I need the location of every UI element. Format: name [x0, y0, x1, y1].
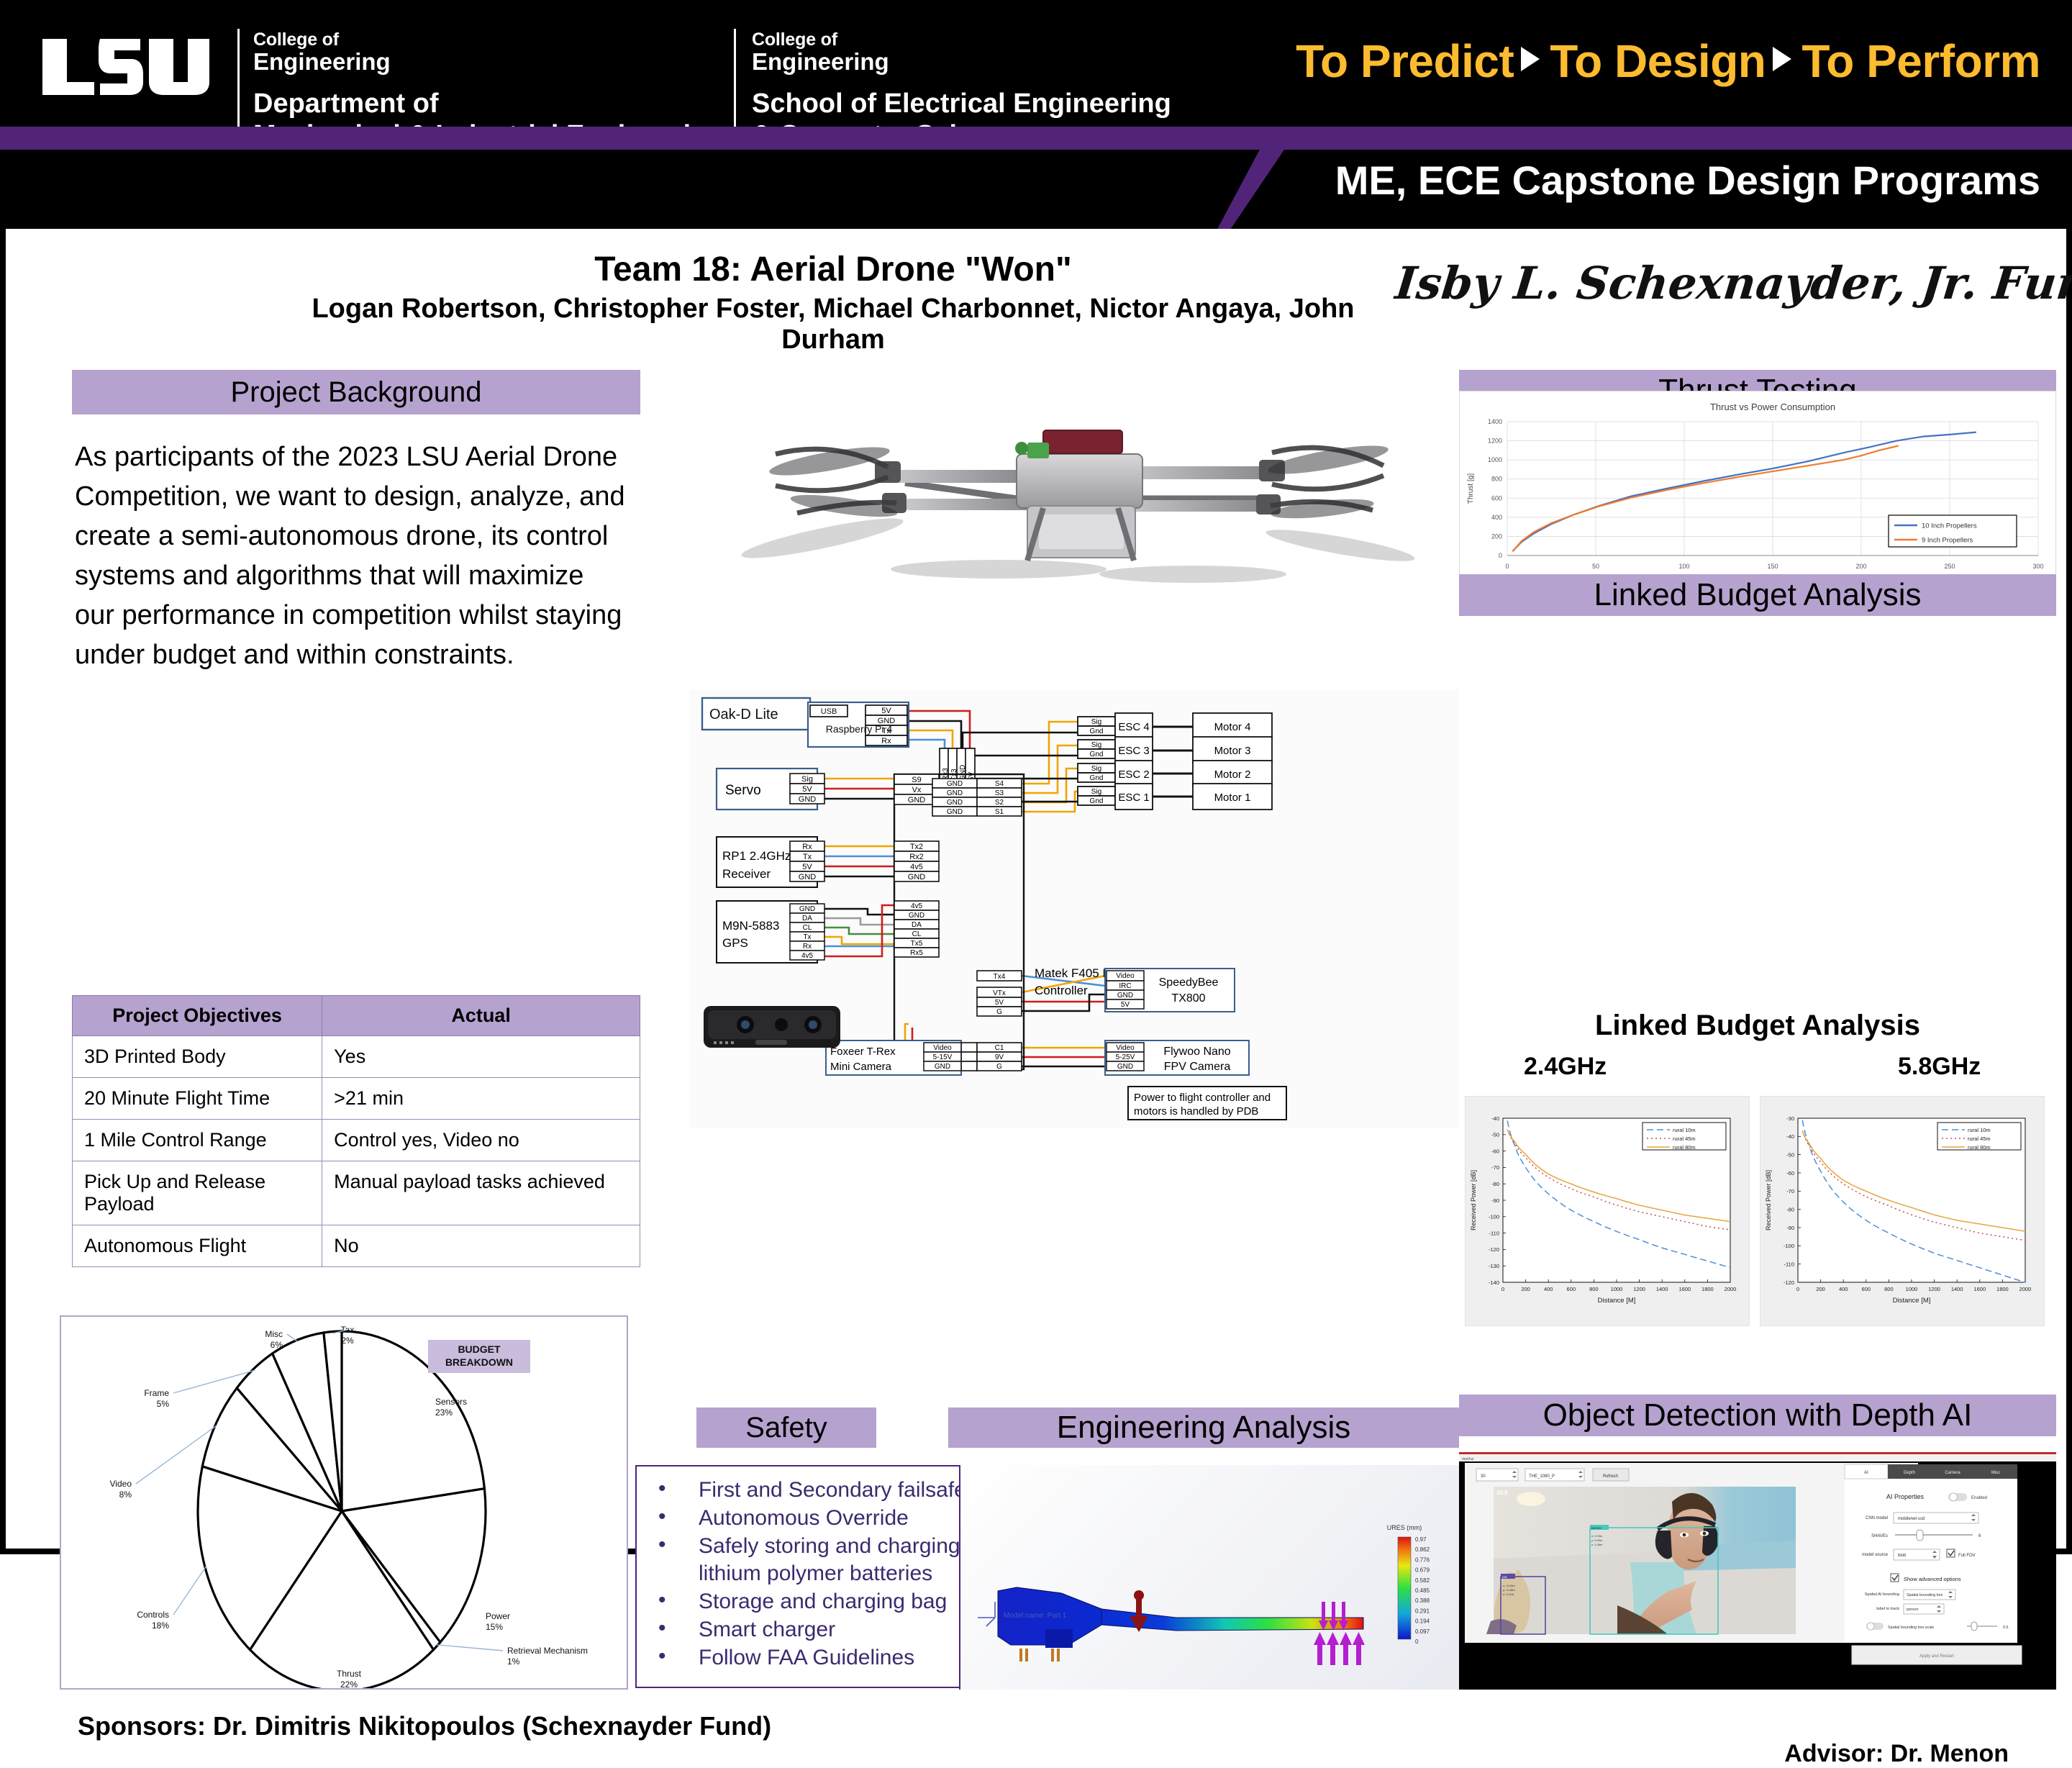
objective-name: 20 Minute Flight Time [73, 1078, 322, 1120]
section-header-engineering-analysis: Engineering Analysis [948, 1407, 1459, 1448]
svg-text:100: 100 [1678, 563, 1689, 570]
fc-rx-pin-0: Tx2 [910, 843, 923, 851]
svg-text:0.776: 0.776 [1415, 1556, 1430, 1563]
svg-text:rural 45m: rural 45m [1673, 1135, 1696, 1142]
svg-text:10 Inch Propellers: 10 Inch Propellers [1922, 522, 1977, 530]
fc-vtx-pin-1: VTx [993, 989, 1006, 997]
fc-servo-pin-2: GND [908, 796, 926, 804]
linked-budget-chart-58ghz: 0200400600800100012001400160018002000-12… [1760, 1096, 2045, 1326]
svg-text:Video: Video [110, 1479, 132, 1489]
svg-text:400: 400 [1544, 1286, 1553, 1292]
svg-text:z: 1.11m: z: 1.11m [1503, 1592, 1514, 1596]
od-tab-misc: Misc [1991, 1471, 2000, 1475]
esc-label-3: ESC 3 [1118, 745, 1149, 757]
svg-text:-90: -90 [1491, 1197, 1499, 1204]
foxeer-pin-1: 5-15V [933, 1053, 953, 1061]
svg-text:y: -0.18m: y: -0.18m [1503, 1588, 1515, 1592]
rx-pin-2: 5V [802, 863, 812, 871]
coordinate-triad-icon [978, 1602, 995, 1626]
rpi-pin-3: Rx [881, 737, 891, 745]
speedybee-label-1: SpeedyBee [1159, 976, 1219, 989]
section-header-engineering-analysis-label: Engineering Analysis [1057, 1410, 1350, 1446]
svg-text:0.388: 0.388 [1415, 1597, 1430, 1604]
svg-text:0.679: 0.679 [1415, 1567, 1430, 1574]
svg-text:6%: 6% [271, 1340, 283, 1350]
svg-text:x: 0.03m: x: 0.03m [1591, 1534, 1603, 1538]
force-arrows-icon [1314, 1602, 1365, 1665]
svg-text:23%: 23% [435, 1407, 453, 1418]
svg-text:Controls: Controls [137, 1610, 169, 1620]
svg-text:300: 300 [2032, 563, 2043, 570]
svg-text:0.194: 0.194 [1415, 1618, 1430, 1625]
svg-text:-80: -80 [1786, 1206, 1794, 1212]
svg-text:-60: -60 [1491, 1148, 1499, 1154]
od-fps-overlay: 30.0 [1496, 1490, 1508, 1496]
oak-d-product-photo [704, 1006, 840, 1048]
svg-text:0: 0 [1501, 1286, 1504, 1292]
od-field-label-0: CNN model [1866, 1516, 1888, 1520]
fc-cam-right-1: 9V [995, 1053, 1004, 1061]
gps-pin-1: DA [802, 915, 812, 922]
objective-name: 3D Printed Body [73, 1036, 322, 1078]
svg-text:-50: -50 [1491, 1132, 1499, 1138]
safety-list: First and Secondary failsafe Autonomous … [637, 1477, 970, 1671]
svg-text:-60: -60 [1786, 1170, 1794, 1177]
motor-label-3: Motor 3 [1214, 745, 1251, 757]
tagline-predict: To Predict [1296, 35, 1514, 87]
list-item: Safely storing and charging lithium poly… [637, 1533, 970, 1586]
svg-text:800: 800 [1491, 476, 1502, 483]
svg-text:1400: 1400 [1656, 1286, 1668, 1292]
header-divider-2 [734, 29, 736, 130]
page-title: Team 18: Aerial Drone "Won" [308, 250, 1358, 289]
fc-gps-pin-0: 4v5 [911, 902, 923, 910]
svg-text:Distance [M]: Distance [M] [1598, 1297, 1636, 1305]
od-resolution-value: THE_1080_P [1529, 1474, 1555, 1479]
speedybee-label-2: TX800 [1171, 992, 1205, 1005]
flywoo-label-2: FPV Camera [1164, 1061, 1231, 1073]
svg-text:Thrust vs Power Consumption: Thrust vs Power Consumption [1710, 402, 1835, 412]
esc1-pin-sig: Sig [1091, 788, 1101, 796]
svg-text:-110: -110 [1784, 1261, 1794, 1267]
rx-pin-1: Tx [803, 853, 812, 861]
poster-body: Team 18: Aerial Drone "Won" Logan Robert… [0, 229, 2072, 1554]
fc-motor-gnd-1: GND [947, 789, 963, 797]
svg-text:0: 0 [1505, 563, 1509, 570]
svg-text:15%: 15% [486, 1622, 503, 1632]
svg-text:-90: -90 [1786, 1225, 1794, 1231]
esc3-pin-sig: Sig [1091, 741, 1101, 749]
page-header: College of Engineering Department of Mec… [0, 0, 2072, 229]
esc-label-4: ESC 4 [1118, 721, 1149, 733]
motor-label-2: Motor 2 [1214, 769, 1251, 781]
fc-rx-pin-3: GND [908, 873, 926, 881]
rpi-pin-0: 5V [881, 707, 891, 715]
svg-text:-100: -100 [1784, 1243, 1794, 1249]
fc-motor-gnd-0: GND [947, 780, 963, 788]
fc-gps-pin-1: GND [909, 912, 924, 920]
lsu-logo [40, 35, 212, 99]
svg-text:600: 600 [1567, 1286, 1576, 1292]
fea-model-label: Model name: Part 1 [1004, 1612, 1067, 1620]
svg-text:0.582: 0.582 [1415, 1577, 1430, 1584]
speedybee-pin-3: 5V [1121, 1001, 1130, 1009]
header-tagline: To PredictTo DesignTo Perform [1296, 35, 2040, 88]
dept2-name-line1: School of Electrical Engineering [752, 88, 1171, 120]
svg-text:0.862: 0.862 [1415, 1546, 1430, 1553]
frequency-label-58ghz: 5.8GHz [1898, 1053, 1981, 1081]
svg-text:Received Power [dB]: Received Power [dB] [1765, 1170, 1772, 1230]
section-header-project-background: Project Background [72, 370, 640, 414]
dept2-college-line1: College of [752, 30, 1171, 50]
linked-budget-chart-24ghz: 0200400600800100012001400160018002000-14… [1465, 1096, 1750, 1326]
od-top-controls: 30 THE_1080_P Refresh [1476, 1469, 1629, 1481]
fc-servo-pin-0: S9 [912, 776, 921, 784]
fc-gps-pin-5: Rx5 [910, 949, 923, 957]
svg-text:1800: 1800 [1701, 1286, 1714, 1292]
od-tracker-label: Spatial bounding box scale [1888, 1626, 1934, 1630]
svg-text:-110: -110 [1489, 1230, 1499, 1236]
program-title: ME, ECE Capstone Design Programs [1335, 157, 2040, 204]
project-background-text: As participants of the 2023 LSU Aerial D… [75, 438, 629, 676]
section-header-safety-label: Safety [745, 1412, 827, 1444]
esc4-pin-sig: Sig [1091, 718, 1101, 726]
gps-pin-5: 4v5 [801, 952, 814, 960]
svg-text:1%: 1% [507, 1656, 520, 1667]
svg-text:2%: 2% [341, 1336, 354, 1346]
svg-text:2000: 2000 [1725, 1286, 1737, 1292]
objective-actual: Yes [322, 1036, 640, 1078]
list-item: First and Secondary failsafe [637, 1477, 970, 1503]
od-field-label-2: model source [1862, 1553, 1889, 1557]
fea-colorbar-title: URES (mm) [1387, 1524, 1422, 1531]
linked-budget-inner-title: Linked Budget Analysis [1459, 1010, 2056, 1042]
svg-text:400: 400 [1491, 514, 1502, 521]
servo-label: Servo [725, 783, 761, 798]
chevron-right-icon-1 [1521, 47, 1540, 71]
od-refresh-button: Refresh [1603, 1474, 1618, 1479]
fc-cam-right-0: C1 [995, 1044, 1004, 1052]
foxeer-label-2: Mini Camera [830, 1061, 892, 1073]
fc-gps-pin-4: Tx5 [911, 940, 923, 948]
objective-actual: >21 min [322, 1078, 640, 1120]
gps-label-2: GPS [722, 936, 748, 950]
svg-text:-50: -50 [1786, 1151, 1794, 1158]
objective-name: 1 Mile Control Range [73, 1120, 322, 1161]
svg-text:600: 600 [1862, 1286, 1871, 1292]
svg-text:0: 0 [1796, 1286, 1799, 1292]
svg-text:1000: 1000 [1611, 1286, 1623, 1292]
budget-breakdown-chart: Sensors23%Power15%Retrieval Mechanism1%T… [60, 1315, 628, 1690]
od-field-value-0: mobilenet-ssd [1898, 1517, 1925, 1521]
objective-actual: No [322, 1225, 640, 1267]
svg-text:Thrust: Thrust [337, 1669, 362, 1679]
fc-motor-sig-1: S3 [995, 789, 1004, 797]
fc-rx-pin-2: 4v5 [910, 863, 923, 871]
flywoo-pin-0: Video [1116, 1044, 1135, 1052]
rx-pin-0: Rx [802, 843, 812, 851]
header-divider-1 [237, 29, 240, 130]
column-header-objectives: Project Objectives [73, 996, 322, 1036]
objective-name: Pick Up and Release Payload [73, 1161, 322, 1225]
column-header-actual: Actual [322, 996, 640, 1036]
od-tab-ai: AI [1864, 1471, 1868, 1475]
od-field-label-1: SHAVEs [1871, 1534, 1888, 1538]
table-row: Pick Up and Release Payload Manual paylo… [73, 1161, 640, 1225]
svg-text:-120: -120 [1489, 1246, 1499, 1253]
svg-text:Thrust [g]: Thrust [g] [1467, 473, 1475, 504]
svg-text:y: 0.09m: y: 0.09m [1591, 1538, 1603, 1542]
svg-text:Retrieval Mechanism: Retrieval Mechanism [507, 1646, 588, 1656]
svg-text:1800: 1800 [1996, 1286, 2009, 1292]
svg-text:rural 10m: rural 10m [1673, 1127, 1696, 1133]
svg-text:Frame: Frame [144, 1388, 169, 1398]
svg-text:-70: -70 [1491, 1164, 1499, 1171]
svg-text:Power: Power [486, 1611, 510, 1621]
esc4-pin-gnd: Gnd [1090, 727, 1104, 735]
svg-text:Sensors: Sensors [435, 1397, 467, 1407]
od-tracker-value: 0.5 [2003, 1626, 2009, 1630]
fea-result-image: Model name: Part 1 URES (mm) 0.970.8620.… [959, 1465, 1463, 1690]
section-header-linked-budget-label: Linked Budget Analysis [1594, 577, 1922, 613]
fc-cam-right-2: G [996, 1063, 1002, 1071]
speedybee-pin-0: Video [1116, 972, 1135, 980]
flywoo-pin-1: 5-25V [1116, 1053, 1135, 1061]
esc-label-2: ESC 2 [1118, 769, 1149, 781]
svg-text:-30: -30 [1786, 1115, 1794, 1122]
list-item: Autonomous Override [637, 1505, 970, 1531]
esc3-pin-gnd: Gnd [1090, 751, 1104, 758]
pdb-note-line2: motors is handled by PDB [1134, 1105, 1258, 1118]
flywoo-pin-2: GND [1117, 1063, 1133, 1071]
svg-text:1000: 1000 [1488, 456, 1502, 463]
gps-label-1: M9N-5883 [722, 919, 779, 933]
svg-text:x: -0.41m: x: -0.41m [1503, 1584, 1515, 1587]
dept1-college-line1: College of [253, 30, 724, 50]
svg-text:rural 80m: rural 80m [1968, 1144, 1991, 1151]
objective-actual: Manual payload tasks achieved [322, 1161, 640, 1225]
fc-motor-sig-2: S2 [995, 799, 1004, 807]
od-apply-button: Apply and Restart [1919, 1654, 1954, 1659]
svg-text:50: 50 [1592, 563, 1599, 570]
svg-text:150: 150 [1767, 563, 1778, 570]
svg-text:18%: 18% [152, 1620, 169, 1631]
svg-text:-70: -70 [1786, 1188, 1794, 1194]
pdb-note-line1: Power to flight controller and [1134, 1092, 1271, 1104]
diagram-label-oak-d: Oak-D Lite [709, 707, 778, 722]
svg-text:Received Power [dB]: Received Power [dB] [1470, 1170, 1477, 1230]
gps-pin-3: Tx [803, 933, 811, 941]
table-row: 20 Minute Flight Time >21 min [73, 1078, 640, 1120]
svg-text:9 Inch Propellers: 9 Inch Propellers [1922, 537, 1973, 545]
svg-text:BUDGET: BUDGET [458, 1343, 501, 1355]
svg-text:22%: 22% [340, 1679, 358, 1690]
svg-text:Misc: Misc [265, 1329, 283, 1339]
svg-text:0: 0 [1415, 1638, 1419, 1645]
od-adv-value-0: Spatial bounding box [1907, 1593, 1943, 1597]
safety-content-box: First and Secondary failsafe Autonomous … [635, 1465, 970, 1688]
dept1-name-line1: Department of [253, 88, 724, 120]
chevron-right-icon-2 [1773, 47, 1791, 71]
section-header-safety: Safety [696, 1407, 876, 1448]
svg-text:Distance [M]: Distance [M] [1893, 1297, 1931, 1305]
object-detection-screenshot: depthai 30 THE_1080_P Refresh [1459, 1452, 2056, 1690]
section-header-object-detection: Object Detection with Depth AI [1459, 1395, 2056, 1436]
dept1-college-line2: Engineering [253, 50, 724, 75]
motor-label-4: Motor 4 [1214, 721, 1251, 733]
rpi-pin-1: GND [878, 717, 896, 725]
foxeer-label-1: Foxeer T-Rex [830, 1046, 896, 1058]
svg-text:rural 45m: rural 45m [1968, 1135, 1991, 1142]
servo-pin-1: 5V [802, 785, 812, 794]
fc-servo-pin-1: Vx [912, 786, 922, 794]
svg-text:1200: 1200 [1633, 1286, 1645, 1292]
svg-text:-80: -80 [1491, 1181, 1499, 1187]
svg-text:600: 600 [1491, 494, 1502, 502]
tagline-design: To Design [1550, 35, 1766, 87]
section-header-linked-budget: Linked Budget Analysis [1459, 574, 2056, 616]
fc-rx-pin-1: Rx2 [909, 853, 924, 861]
fc-gps-pin-2: DA [912, 921, 922, 929]
fc-motor-gnd-2: GND [947, 799, 963, 807]
list-item: Smart charger [637, 1616, 970, 1643]
svg-text:0.97: 0.97 [1415, 1536, 1427, 1543]
od-adv-label-0: Spatial AI bounding [1865, 1592, 1899, 1597]
esc1-pin-gnd: Gnd [1090, 797, 1104, 805]
esc2-pin-gnd: Gnd [1090, 774, 1104, 782]
foxeer-pin-2: GND [935, 1063, 950, 1071]
svg-text:200: 200 [1491, 532, 1502, 540]
drone-render-image [689, 391, 1455, 589]
svg-text:1000: 1000 [1906, 1286, 1918, 1292]
svg-text:BREAKDOWN: BREAKDOWN [445, 1356, 513, 1368]
svg-text:1600: 1600 [1678, 1286, 1691, 1292]
svg-text:200: 200 [1855, 563, 1866, 570]
esc-label-1: ESC 1 [1118, 792, 1149, 804]
frequency-label-24ghz: 2.4GHz [1524, 1053, 1607, 1081]
list-item: Storage and charging bag [637, 1588, 970, 1615]
od-advanced-label-2: Show advanced options [1904, 1576, 1961, 1582]
svg-text:800: 800 [1589, 1286, 1599, 1292]
fc-gps-pin-3: CL [912, 930, 922, 938]
svg-text:200: 200 [1521, 1286, 1530, 1292]
svg-text:-40: -40 [1786, 1133, 1794, 1140]
servo-pin-2: GND [799, 795, 817, 804]
od-toggle-label: Enabled [1971, 1496, 1987, 1500]
od-tab-camera: Camera [1945, 1471, 1960, 1475]
section-header-project-background-label: Project Background [230, 376, 481, 409]
gps-pin-2: CL [803, 924, 812, 932]
svg-text:800: 800 [1884, 1286, 1894, 1292]
rpi-pin-2: Tx [882, 727, 891, 735]
svg-text:-100: -100 [1489, 1214, 1499, 1220]
od-panel-title: AI Properties [1886, 1493, 1925, 1500]
schexnayder-fund-logo: Isby L. Schexnayder, Jr. Fund [1459, 250, 2056, 315]
svg-text:2000: 2000 [2019, 1286, 2032, 1292]
esc2-pin-sig: Sig [1091, 765, 1101, 773]
fc-motor-sig-3: S1 [995, 808, 1004, 816]
svg-text:400: 400 [1839, 1286, 1848, 1292]
svg-text:1200: 1200 [1488, 438, 1502, 445]
receiver-label-2: Receiver [722, 867, 771, 881]
svg-text:5%: 5% [157, 1399, 170, 1409]
svg-text:250: 250 [1944, 563, 1955, 570]
svg-text:8%: 8% [119, 1490, 132, 1500]
od-tab-depth: Depth [1904, 1471, 1915, 1475]
od-properties-panel: AI Depth Camera Misc AI Properties Enabl… [1845, 1464, 2022, 1664]
svg-text:-140: -140 [1489, 1279, 1499, 1286]
table-row: 1 Mile Control Range Control yes, Video … [73, 1120, 640, 1161]
advisor-text: Advisor: Dr. Menon [1784, 1740, 2009, 1768]
objectives-table: Project Objectives Actual 3D Printed Bod… [72, 995, 640, 1267]
foxeer-pin-0: Video [933, 1044, 952, 1052]
gps-pin-4: Rx [803, 943, 812, 951]
table-header-row: Project Objectives Actual [73, 996, 640, 1036]
fc-motor-gnd-3: GND [947, 808, 963, 816]
fc-vtx-pin-2: 5V [995, 999, 1004, 1007]
svg-text:0.485: 0.485 [1415, 1587, 1430, 1594]
svg-text:-40: -40 [1491, 1115, 1499, 1122]
motor-label-1: Motor 1 [1214, 792, 1251, 804]
table-row: Autonomous Flight No [73, 1225, 640, 1267]
fc-motor-sig-0: S4 [995, 780, 1004, 788]
table-row: 3D Printed Body Yes [73, 1036, 640, 1078]
od-window-title: depthai [1462, 1457, 1473, 1461]
od-adv-value-1: person [1907, 1608, 1918, 1612]
thrust-chart-panel: Thrust vs Power Consumption0501001502002… [1459, 391, 2056, 592]
svg-text:1400: 1400 [1951, 1286, 1963, 1292]
svg-text:0: 0 [1499, 552, 1502, 559]
svg-text:1400: 1400 [1488, 418, 1502, 425]
svg-text:rural 10m: rural 10m [1968, 1127, 1991, 1133]
svg-text:0.097: 0.097 [1415, 1628, 1430, 1635]
wiring-diagram: Oak-D Lite USB Raspberry Pi 4 5V GND Tx … [689, 689, 1459, 1128]
fc-vtx-pin-0: Tx4 [994, 973, 1006, 981]
svg-text:z: 1.28m: z: 1.28m [1591, 1543, 1603, 1546]
svg-text:1200: 1200 [1928, 1286, 1940, 1292]
fea-colorbar: URES (mm) 0.970.8620.7760.6790.5820.4850… [1387, 1524, 1430, 1645]
receiver-label-1: RP1 2.4GHz [722, 849, 791, 863]
svg-text:0.291: 0.291 [1415, 1608, 1430, 1614]
od-detection-label-cat: cat [1502, 1575, 1507, 1579]
od-detection-label-person: person [1591, 1526, 1601, 1530]
svg-text:rural 80m: rural 80m [1673, 1144, 1696, 1151]
servo-pin-0: Sig [801, 775, 813, 784]
svg-text:-120: -120 [1784, 1279, 1794, 1286]
speedybee-pin-2: GND [1117, 992, 1133, 999]
poster-title-block: Team 18: Aerial Drone "Won" Logan Robert… [308, 250, 1358, 356]
flywoo-label-1: Flywoo Nano [1163, 1046, 1230, 1058]
fc-label-2: Controller [1035, 984, 1088, 997]
objective-actual: Control yes, Video no [322, 1120, 640, 1161]
tagline-perform: To Perform [1801, 35, 2040, 87]
sponsors-text: Sponsors: Dr. Dimitris Nikitopoulos (Sch… [78, 1711, 771, 1741]
od-fps-value: 30 [1481, 1474, 1486, 1479]
fc-vtx-pin-3: G [996, 1008, 1002, 1016]
svg-text:-130: -130 [1489, 1263, 1499, 1269]
list-item: Follow FAA Guidelines [637, 1644, 970, 1671]
svg-text:200: 200 [1816, 1286, 1825, 1292]
dept2-college-line2: Engineering [752, 50, 1171, 75]
speedybee-pin-1: IRC [1119, 982, 1131, 990]
rpi-pin-usb: USB [821, 707, 837, 716]
section-header-object-detection-label: Object Detection with Depth AI [1543, 1397, 1973, 1433]
svg-text:1600: 1600 [1973, 1286, 1986, 1292]
od-video-feed: person x: 0.03m y: 0.09m z: 1.28m cat x:… [1486, 1487, 1796, 1634]
gps-pin-0: GND [799, 905, 815, 913]
objective-name: Autonomous Flight [73, 1225, 322, 1267]
fund-logo-text: Isby L. Schexnayder, Jr. Fund [1393, 257, 2072, 309]
